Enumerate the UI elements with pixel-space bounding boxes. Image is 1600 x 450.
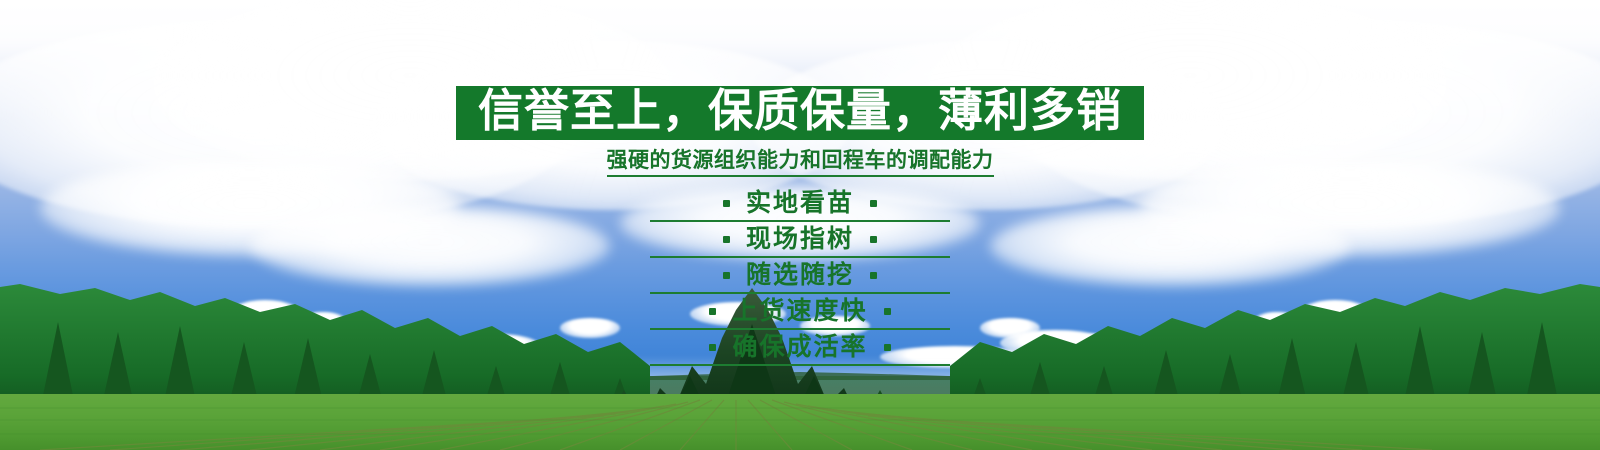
headline-bar: 信誉至上，保质保量，薄利多销 (456, 86, 1144, 140)
subtitle: 强硬的货源组织能力和回程车的调配能力 (607, 148, 994, 177)
list-item: 随选随挖 (650, 258, 950, 294)
promo-banner: 信誉至上，保质保量，薄利多销 强硬的货源组织能力和回程车的调配能力 实地看苗 现… (0, 0, 1600, 450)
bullet-dot-icon (884, 344, 891, 351)
page-title: 信誉至上，保质保量，薄利多销 (478, 88, 1122, 134)
crop-rows (0, 394, 1600, 450)
feature-label: 现场指树 (746, 224, 854, 254)
bullet-dot-icon (870, 200, 877, 207)
list-item: 上货速度快 (650, 294, 950, 330)
feature-label: 上货速度快 (732, 296, 867, 326)
list-item: 现场指树 (650, 222, 950, 258)
feature-label: 确保成活率 (732, 332, 867, 362)
bullet-dot-icon (723, 272, 730, 279)
feature-label: 实地看苗 (746, 188, 854, 218)
bullet-dot-icon (709, 308, 716, 315)
bullet-dot-icon (723, 236, 730, 243)
banner-content: 信誉至上，保质保量，薄利多销 强硬的货源组织能力和回程车的调配能力 实地看苗 现… (0, 0, 1600, 366)
bullet-dot-icon (723, 200, 730, 207)
bullet-dot-icon (884, 308, 891, 315)
bullet-dot-icon (870, 236, 877, 243)
bullet-dot-icon (709, 344, 716, 351)
list-item: 实地看苗 (650, 186, 950, 222)
bullet-dot-icon (870, 272, 877, 279)
feature-list: 实地看苗 现场指树 随选随挖 上货速度快 确保成活率 (650, 186, 950, 366)
list-item: 确保成活率 (650, 330, 950, 366)
feature-label: 随选随挖 (746, 260, 854, 290)
